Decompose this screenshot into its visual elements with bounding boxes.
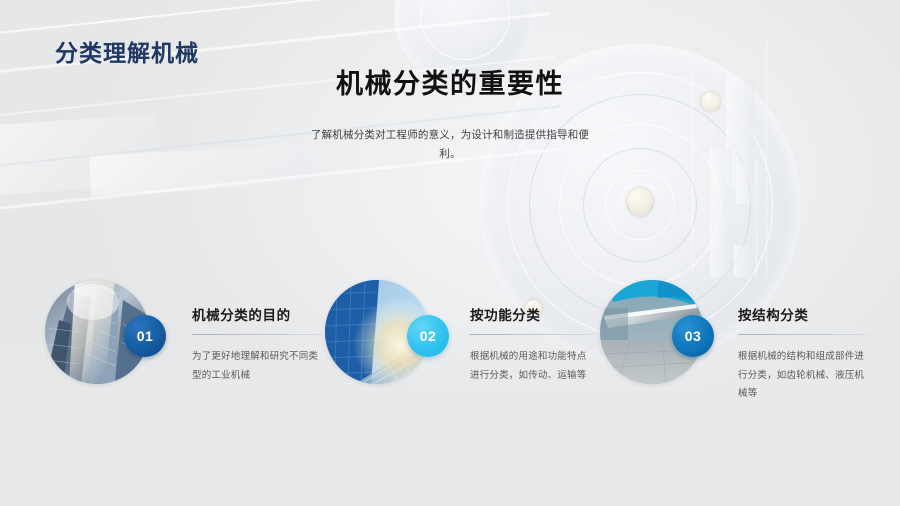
slide-canvas: 分类理解机械 机械分类的重要性 了解机械分类对工程师的意义，为设计和制造提供指导…	[0, 0, 900, 506]
feature-card-02-title: 按功能分类	[470, 304, 595, 324]
badge-number-03: 03	[672, 315, 714, 357]
feature-card-03-text: 按结构分类 根据机械的结构和组成部件进行分类，如齿轮机械、液压机械等	[738, 304, 866, 404]
feature-card-02-description: 根据机械的用途和功能特点进行分类，如传动、运输等	[470, 348, 595, 385]
feature-card-01-title: 机械分类的目的	[192, 304, 322, 324]
feature-card-03-description: 根据机械的结构和组成部件进行分类，如齿轮机械、液压机械等	[738, 348, 866, 404]
page-title: 分类理解机械	[55, 34, 199, 68]
feature-card-02-divider	[470, 334, 595, 335]
hero-title: 机械分类的重要性	[250, 68, 650, 100]
hero-block: 机械分类的重要性 了解机械分类对工程师的意义，为设计和制造提供指导和便利。	[250, 68, 650, 163]
feature-card-03-divider	[738, 334, 866, 335]
feature-card-02-text: 按功能分类 根据机械的用途和功能特点进行分类，如传动、运输等	[470, 304, 595, 385]
hero-subtitle: 了解机械分类对工程师的意义，为设计和制造提供指导和便利。	[307, 126, 593, 163]
feature-cards-row: 01 机械分类的目的 为了更好地理解和研究不同类型的工业机械	[0, 272, 900, 452]
background-machine-blocks	[670, 0, 900, 300]
badge-number-02: 02	[407, 315, 449, 357]
feature-card-03-title: 按结构分类	[738, 304, 866, 324]
feature-card-01-description: 为了更好地理解和研究不同类型的工业机械	[192, 348, 322, 385]
feature-card-01-divider	[192, 334, 322, 335]
badge-number-01: 01	[124, 315, 166, 357]
feature-card-01-text: 机械分类的目的 为了更好地理解和研究不同类型的工业机械	[192, 304, 322, 385]
